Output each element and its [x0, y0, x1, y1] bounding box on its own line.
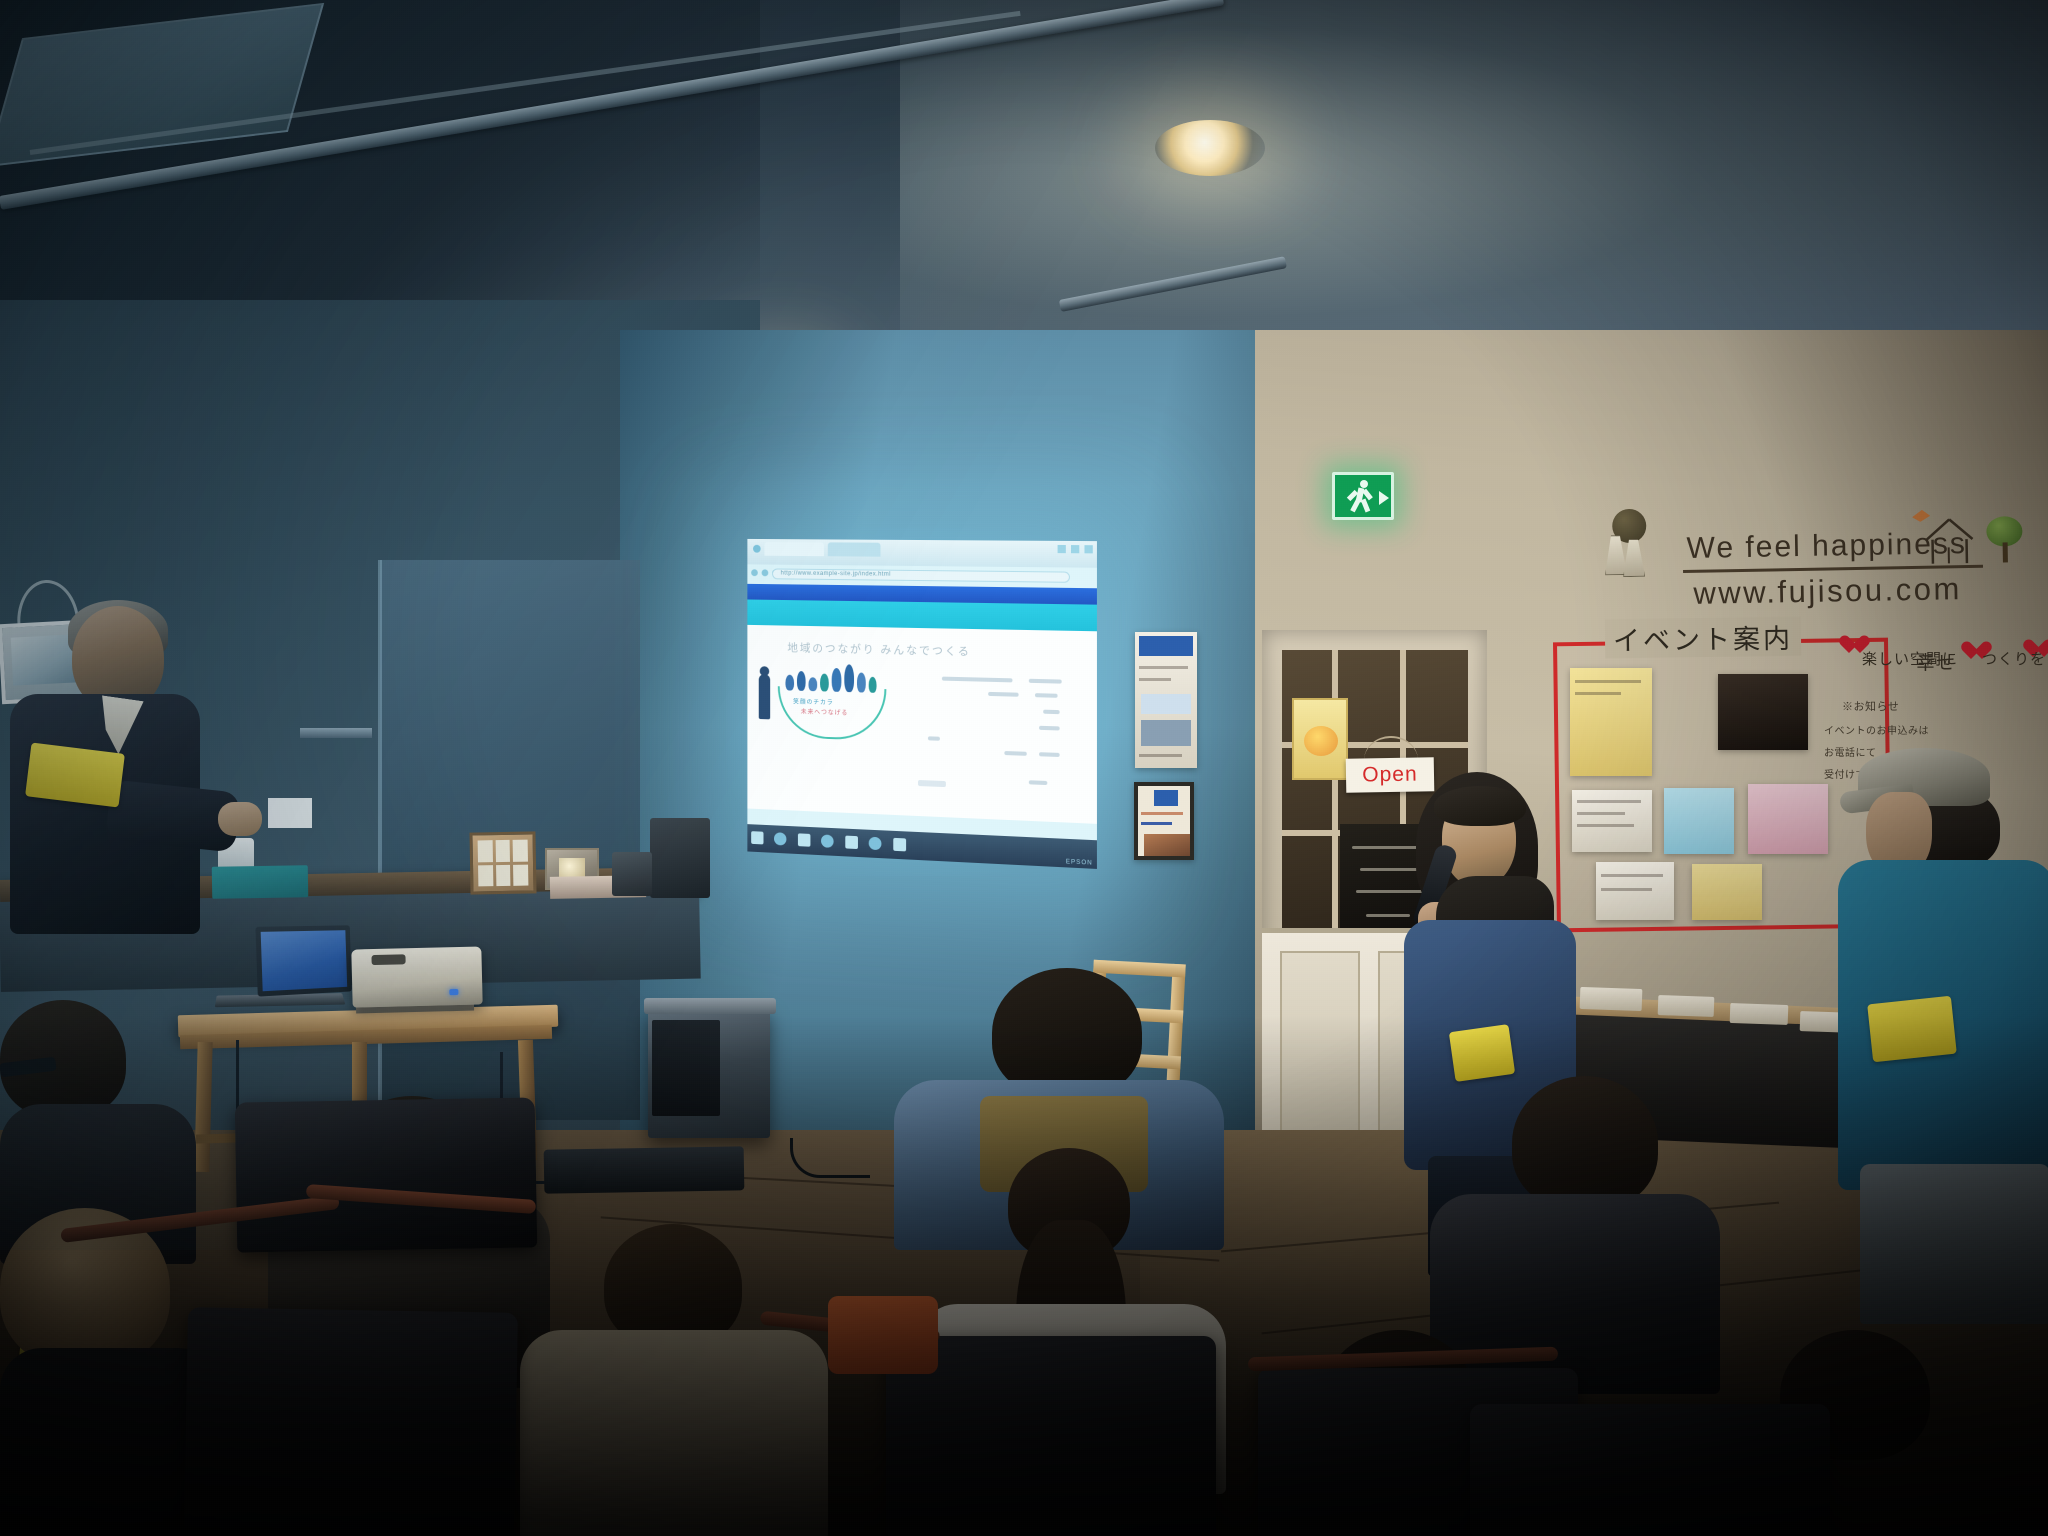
yellow-armband [25, 742, 125, 807]
projector-vent [371, 954, 405, 965]
audience-head [0, 1000, 126, 1118]
counter-flyer [1658, 995, 1715, 1017]
floor-speaker-case [544, 1146, 745, 1193]
slide-text-line [1029, 679, 1062, 684]
framed-wall-poster [1134, 782, 1194, 860]
maximize-icon[interactable] [1071, 545, 1079, 553]
leather-chair[interactable] [235, 1097, 538, 1252]
event-poster [1692, 864, 1762, 920]
window-controls[interactable] [1058, 545, 1093, 553]
url-text: http://www.example-site.jp/index.html [781, 571, 891, 578]
browser-url-bar[interactable]: http://www.example-site.jp/index.html [772, 568, 1070, 582]
projector-brand-label: EPSON [1066, 859, 1093, 866]
heart-icon [1838, 636, 1860, 656]
taskbar-icon[interactable] [821, 834, 834, 847]
browser-tab-active[interactable] [764, 542, 823, 556]
slide-text-line [1039, 752, 1060, 757]
figure [797, 671, 806, 691]
browser-tab[interactable] [828, 542, 881, 556]
capman-trousers [1860, 1164, 2048, 1324]
wall-note [268, 798, 312, 828]
projector [351, 946, 482, 1007]
taskbar-icon[interactable] [774, 832, 786, 845]
people-in-bowl-illustration: 笑顔のチカラ 未来へつなげる [757, 660, 892, 743]
audience-head [992, 968, 1142, 1098]
event-board-title: イベント案内 [1605, 617, 1802, 659]
lamp-shade [1622, 539, 1645, 577]
event-photo-poster [1718, 674, 1808, 750]
dark-appliance [650, 818, 710, 898]
runner-head [1360, 480, 1368, 488]
orange-bag [828, 1296, 938, 1374]
house-icon [1924, 517, 1975, 566]
back-icon[interactable] [751, 569, 758, 576]
counter-flyer [1730, 1003, 1789, 1025]
audience-head [1512, 1076, 1658, 1210]
slide-text-line [1004, 751, 1026, 756]
audience-member [0, 1000, 200, 1230]
runner-leg [1350, 499, 1361, 513]
slide-text-line [1035, 693, 1058, 698]
figure [785, 675, 794, 691]
board-note: イベントのお申込みは [1824, 722, 1929, 737]
projector-power-led [449, 989, 458, 995]
projection-screen: http://www.example-site.jp/index.html 地域… [747, 539, 1097, 869]
emergency-exit-sign [1332, 472, 1394, 520]
slide-text-line [1039, 726, 1060, 731]
minimize-icon[interactable] [1058, 545, 1066, 553]
slide-headline: 地域のつながり みんなでつくる [787, 639, 970, 659]
audience-hoodie [520, 1330, 828, 1536]
presenter-hand [218, 802, 262, 836]
photo-collage-frame [469, 831, 536, 894]
board-tagline-right: つくりを [1982, 648, 2046, 669]
leather-chair[interactable] [1470, 1404, 1830, 1536]
lamp-icon [1600, 509, 1655, 576]
leather-chair[interactable] [184, 1307, 518, 1536]
slide-block [918, 780, 946, 787]
slide-text-line [988, 692, 1018, 697]
heart-icon [1960, 642, 1976, 657]
standing-person-figure [759, 674, 770, 719]
slide-text-line [928, 736, 940, 740]
figure [808, 677, 817, 691]
browser-chrome [747, 539, 1097, 568]
slide-page: 地域のつながり みんなでつくる 笑顔のチカラ 未来へつなげる [747, 625, 1097, 824]
close-icon[interactable] [1084, 545, 1092, 553]
slide-text-line [1043, 710, 1059, 715]
dark-appliance-small [612, 852, 652, 896]
logo-website: www.fujisou.com [1693, 571, 1962, 612]
small-shelf [300, 728, 372, 738]
board-tagline-mid: 幸せ [1916, 648, 1956, 675]
door-window-poster [1292, 698, 1348, 780]
slide-text-line [1029, 780, 1047, 785]
runner-leg [1361, 499, 1371, 513]
browser-favicon [753, 545, 761, 553]
taskbar-icon[interactable] [845, 836, 858, 849]
taskbar-start-icon[interactable] [751, 831, 763, 844]
figure [844, 664, 854, 692]
door-mullion [1332, 650, 1338, 950]
event-poster [1570, 668, 1652, 776]
event-poster [1748, 784, 1828, 854]
taskbar-icon[interactable] [798, 833, 811, 846]
running-person-icon [1349, 480, 1377, 512]
exit-arrow-icon [1379, 491, 1389, 505]
door-panel [1280, 951, 1360, 1151]
audience-member [520, 1224, 830, 1536]
figure [832, 668, 842, 692]
tree-icon [1986, 516, 2023, 563]
yellow-armband [1449, 1024, 1515, 1082]
illustration-caption-2: 未来へつなげる [801, 707, 848, 717]
figure [820, 674, 829, 692]
board-note: ※お知らせ [1842, 698, 1899, 714]
tree-trunk [2003, 542, 2008, 562]
amplifier-top [644, 998, 776, 1014]
figure [869, 677, 877, 693]
floor-cable [790, 1138, 870, 1178]
figure [857, 672, 866, 692]
wall-poster-info [1135, 632, 1197, 768]
event-poster [1596, 862, 1674, 920]
staff-member-with-cap [1838, 748, 2048, 1348]
recessed-downlight [1155, 120, 1265, 176]
taskbar-icon[interactable] [869, 837, 882, 851]
illustration-caption-1: 笑顔のチカラ [793, 696, 834, 706]
browser-tab-row[interactable] [753, 542, 880, 557]
amplifier-front-panel [652, 1020, 720, 1116]
taskbar-icon[interactable] [893, 838, 906, 852]
yellow-armband [1867, 996, 1957, 1062]
speaker-bangs [1434, 786, 1526, 826]
room-photo-scene: http://www.example-site.jp/index.html 地域… [0, 0, 2048, 1536]
event-poster [1664, 788, 1734, 854]
forward-icon[interactable] [762, 569, 769, 576]
slide-text-line [942, 677, 1013, 683]
